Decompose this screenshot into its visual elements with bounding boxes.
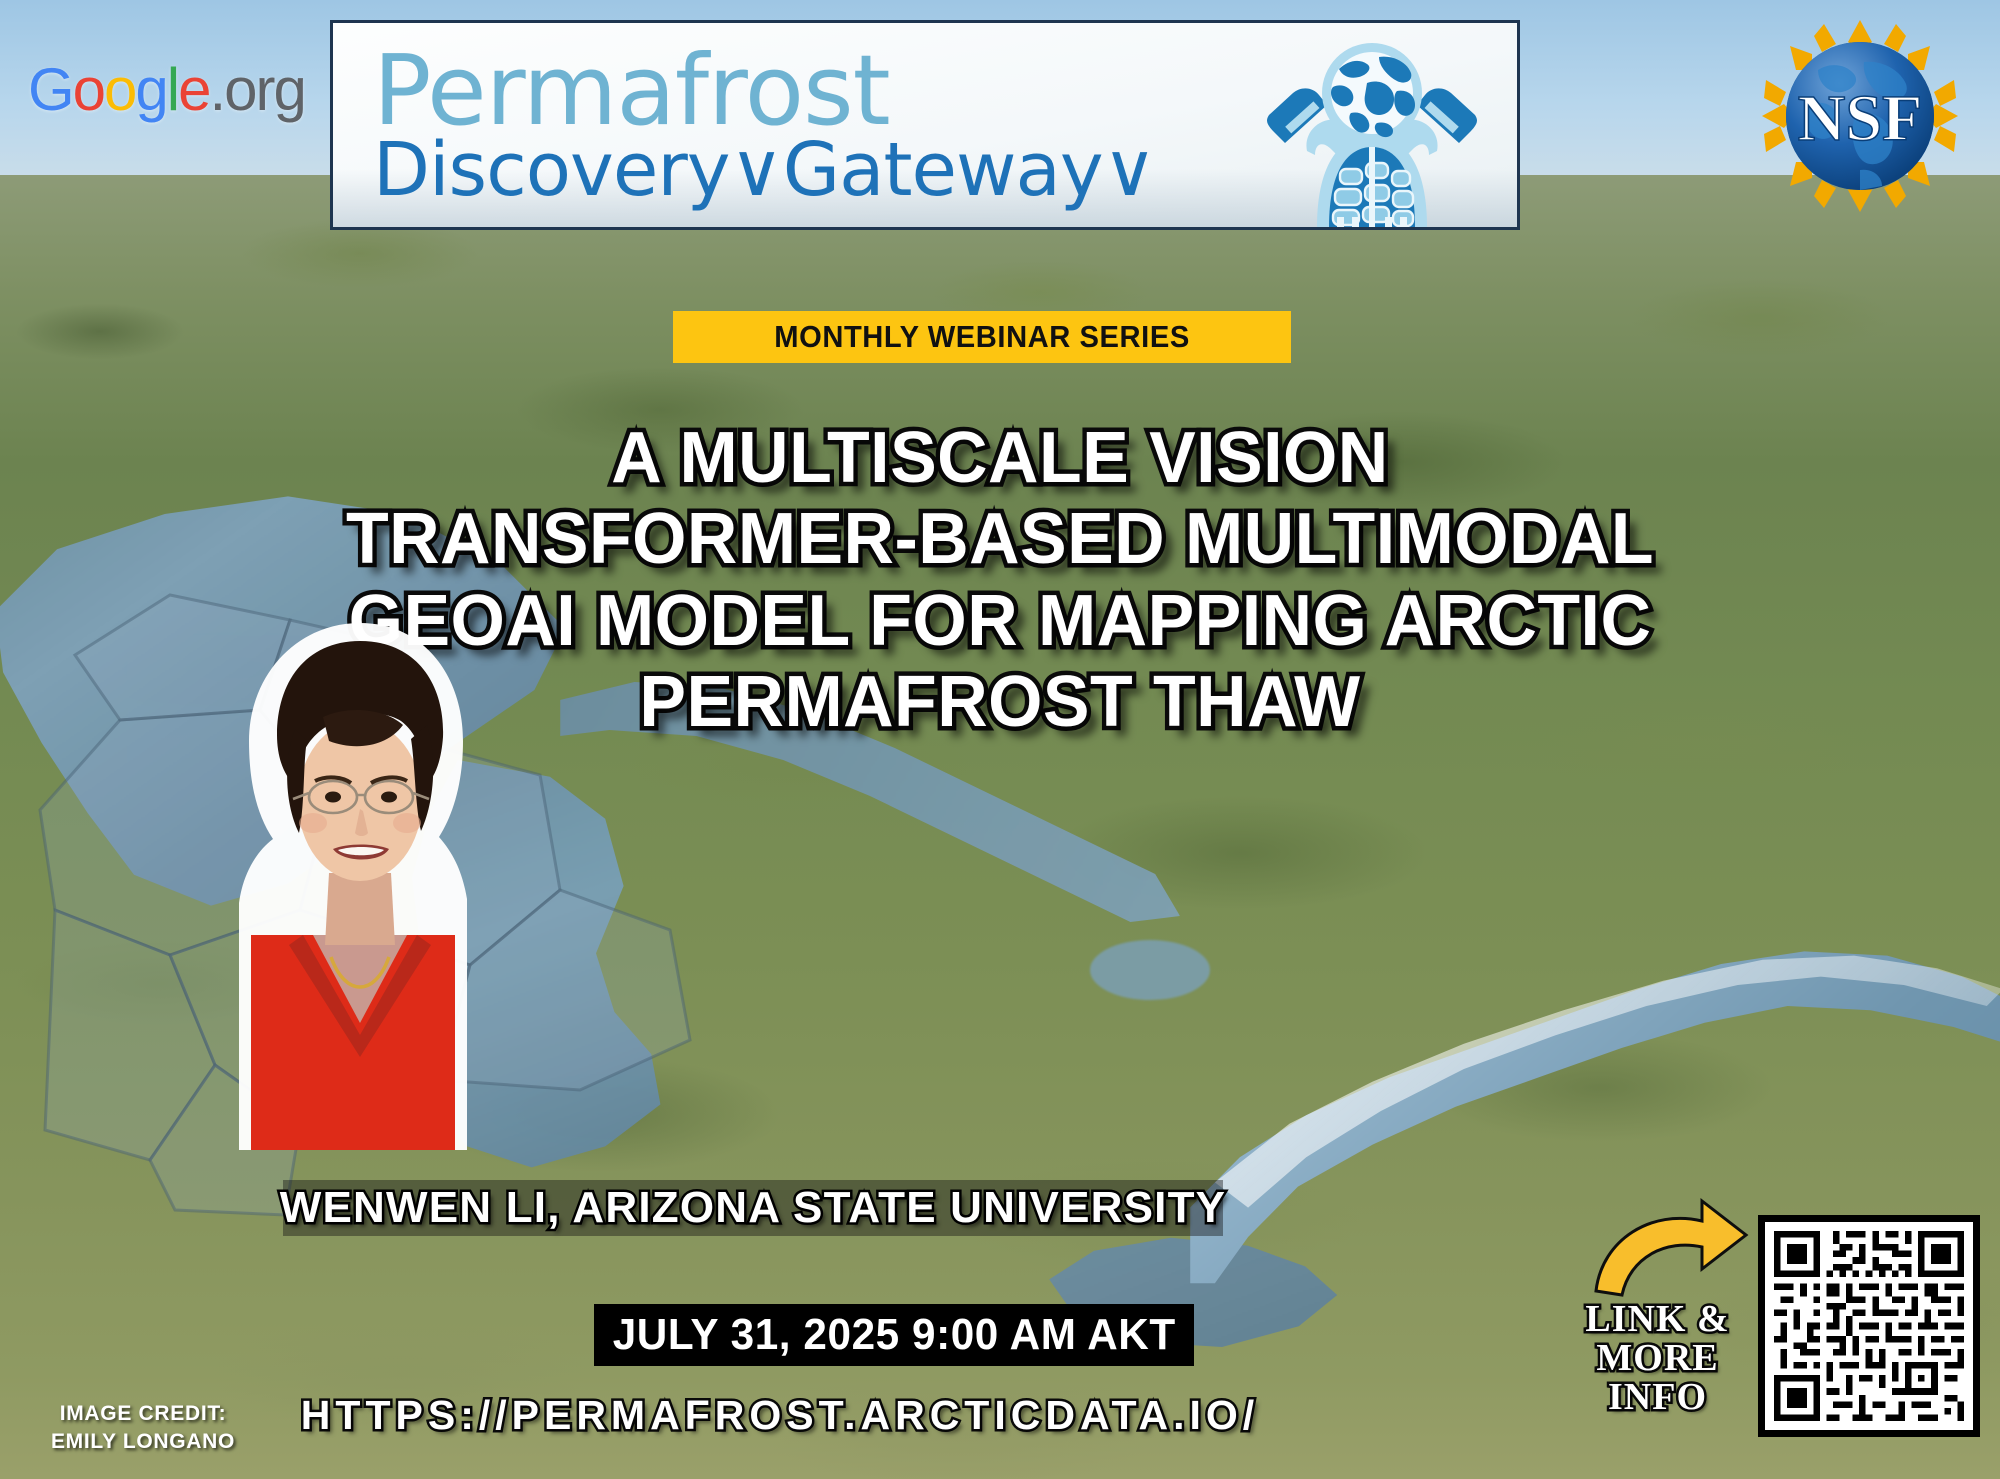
permafrost-discovery-gateway-logo: Permafrost Discovery∨Gateway∨ xyxy=(330,20,1520,230)
qr-caption-line3: INFO xyxy=(1565,1378,1750,1417)
webinar-poster: Google.org Permafrost Discovery∨Gateway∨ xyxy=(0,0,2000,1479)
permafrost-figure-globe-icon xyxy=(1247,31,1497,227)
background-pond-small xyxy=(1090,940,1210,1000)
google-letter-e: e xyxy=(178,56,209,123)
image-credit-label: IMAGE CREDIT: xyxy=(28,1400,258,1428)
event-datetime-text: JULY 31, 2025 9:00 AM AKT xyxy=(612,1310,1175,1360)
pdg-wordmark-line2: Discovery∨Gateway∨ xyxy=(373,136,1156,204)
pdg-wordmark-line1: Permafrost xyxy=(373,46,1156,135)
speaker-headshot-wenwen-li xyxy=(205,605,515,1150)
curved-arrow-icon xyxy=(1590,1195,1750,1305)
google-letter-o2: o xyxy=(104,56,135,123)
image-credit: IMAGE CREDIT: EMILY LONGANO xyxy=(28,1400,258,1457)
title-line-1: A MULTISCALE VISION xyxy=(30,418,1970,499)
series-banner-label: MONTHLY WEBINAR SERIES xyxy=(774,319,1190,355)
event-url-text[interactable]: HTTPS://PERMAFROST.ARCTICDATA.IO/ xyxy=(301,1392,1259,1438)
google-letter-o1: o xyxy=(73,56,104,123)
speaker-name-bar: WENWEN LI, ARIZONA STATE UNIVERSITY xyxy=(283,1180,1223,1236)
qr-caption-line1: LINK & xyxy=(1565,1300,1750,1339)
nsf-globe-logo: NSF xyxy=(1760,18,1960,214)
google-letter-l: l xyxy=(167,56,178,123)
google-org-logo: Google.org xyxy=(28,55,305,124)
qr-caption-line2: MORE xyxy=(1565,1339,1750,1378)
title-line-2: TRANSFORMER-BASED MULTIMODAL xyxy=(30,499,1970,580)
qr-caption: LINK & MORE INFO xyxy=(1565,1300,1750,1416)
event-datetime-bar: JULY 31, 2025 9:00 AM AKT xyxy=(594,1304,1194,1366)
google-letter-g1: G xyxy=(28,56,73,123)
google-org-suffix: .org xyxy=(210,56,305,123)
pdg-wordmark: Permafrost Discovery∨Gateway∨ xyxy=(333,46,1156,203)
qr-code[interactable] xyxy=(1758,1215,1980,1437)
nsf-letters: NSF xyxy=(1798,82,1923,155)
google-letter-g2: g xyxy=(135,56,166,123)
speaker-name-text: WENWEN LI, ARIZONA STATE UNIVERSITY xyxy=(280,1183,1226,1233)
monthly-webinar-series-banner: MONTHLY WEBINAR SERIES xyxy=(673,311,1291,363)
image-credit-name: EMILY LONGANO xyxy=(28,1428,258,1456)
